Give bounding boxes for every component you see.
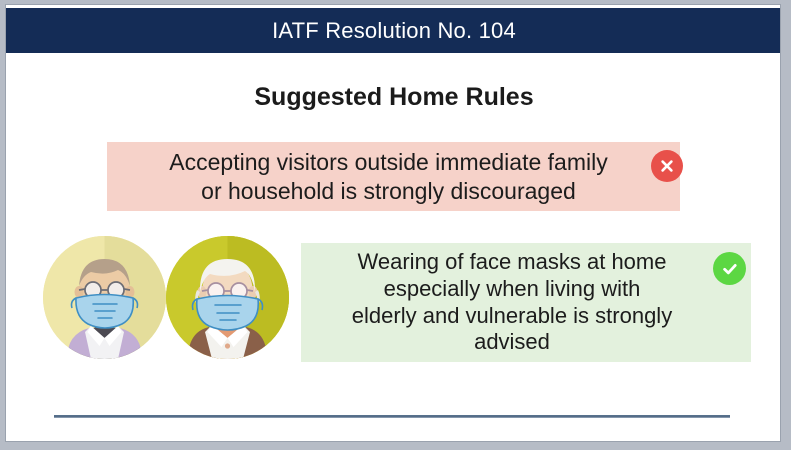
rule-text-face-masks: Wearing of face masks at home especially…	[352, 249, 700, 356]
elderly-woman-with-face-mask-icon	[166, 236, 289, 359]
slide-body: Suggested Home Rules Accepting visitors …	[6, 53, 781, 442]
slide-header-bar: IATF Resolution No. 104	[6, 8, 781, 53]
rule-box-face-masks: Wearing of face masks at home especially…	[301, 243, 751, 362]
slide-heading: Suggested Home Rules	[6, 83, 781, 112]
slide-header-title: IATF Resolution No. 104	[272, 18, 516, 44]
slide-viewer: IATF Resolution No. 104 Suggested Home R…	[0, 0, 791, 450]
rule-text-visitors: Accepting visitors outside immediate fam…	[169, 148, 617, 204]
slide-frame: IATF Resolution No. 104 Suggested Home R…	[5, 4, 781, 442]
check-circle-icon	[713, 252, 746, 285]
x-circle-icon	[651, 150, 683, 182]
rule-box-visitors: Accepting visitors outside immediate fam…	[107, 142, 680, 211]
elderly-man-with-face-mask-icon	[43, 236, 166, 359]
footer-divider	[54, 415, 730, 418]
